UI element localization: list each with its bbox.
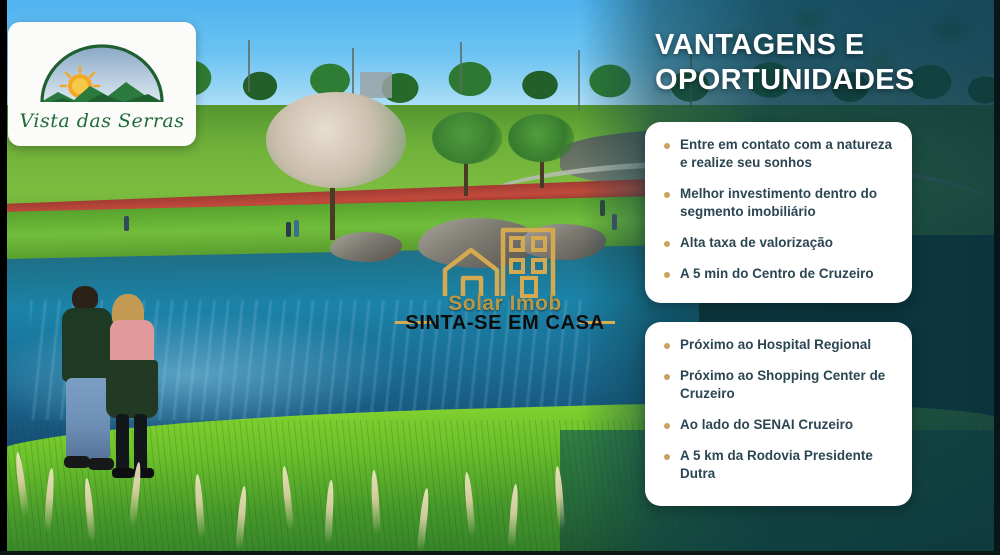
bullet-dot-icon xyxy=(664,423,670,429)
distant-building xyxy=(360,72,392,98)
list-item: Próximo ao Shopping Center de Cruzeiro xyxy=(659,367,896,403)
man-torso xyxy=(62,308,112,382)
couple-figure xyxy=(58,278,188,500)
man-jeans xyxy=(66,378,110,460)
pedestrian xyxy=(124,216,129,231)
man-shoe xyxy=(88,458,114,470)
list-item: A 5 min do Centro de Cruzeiro xyxy=(659,265,896,283)
bullet-dot-icon xyxy=(664,192,670,198)
woman-shoe xyxy=(112,468,134,478)
list-item-label: A 5 min do Centro de Cruzeiro xyxy=(680,266,874,281)
headline-line-2: OPORTUNIDADES xyxy=(655,63,985,98)
list-item: Alta taxa de valorização xyxy=(659,234,896,252)
bullet-dot-icon xyxy=(664,343,670,349)
pedestrian xyxy=(286,222,291,237)
list-item: Próximo ao Hospital Regional xyxy=(659,336,896,354)
list-item: Entre em contato com a natureza e realiz… xyxy=(659,136,896,172)
right-edge-border xyxy=(994,0,1000,555)
list-item-label: Próximo ao Hospital Regional xyxy=(680,337,871,352)
woman-skirt xyxy=(106,360,158,418)
man-shoe xyxy=(64,456,90,468)
location-bullet-list: Próximo ao Hospital Regional Próximo ao … xyxy=(659,336,896,483)
location-card[interactable]: Próximo ao Hospital Regional Próximo ao … xyxy=(645,322,912,506)
list-item: Melhor investimento dentro do segmento i… xyxy=(659,185,896,221)
rock xyxy=(330,232,402,262)
list-item-label: Próximo ao Shopping Center de Cruzeiro xyxy=(680,368,885,401)
brand-logo-name: Vista das Serras xyxy=(19,110,184,132)
pedestrian xyxy=(294,220,299,237)
bottom-edge-border xyxy=(0,551,1000,555)
list-item-label: Entre em contato com a natureza e realiz… xyxy=(680,137,892,170)
light-pole xyxy=(248,40,250,92)
bullet-dot-icon xyxy=(664,272,670,278)
headline-line-1: VANTAGENS E xyxy=(655,28,985,63)
man-head xyxy=(72,286,98,310)
advantages-bullet-list: Entre em contato com a natureza e realiz… xyxy=(659,136,896,283)
list-item-label: A 5 km da Rodovia Presidente Dutra xyxy=(680,448,873,481)
bullet-dot-icon xyxy=(664,374,670,380)
light-pole xyxy=(460,42,462,92)
woman-leg xyxy=(134,414,147,472)
light-pole xyxy=(352,48,354,94)
list-item-label: Alta taxa de valorização xyxy=(680,235,833,250)
list-item: Ao lado do SENAI Cruzeiro xyxy=(659,416,896,434)
promotional-banner: Vista das Serras Solar Imob xyxy=(0,0,1000,555)
blossom-tree xyxy=(266,92,406,188)
left-edge-border xyxy=(0,0,7,555)
bullet-dot-icon xyxy=(664,241,670,247)
tree xyxy=(432,112,502,164)
advantages-card[interactable]: Entre em contato com a natureza e realiz… xyxy=(645,122,912,303)
tree xyxy=(508,114,574,162)
list-item-label: Ao lado do SENAI Cruzeiro xyxy=(680,417,853,432)
bullet-dot-icon xyxy=(664,454,670,460)
list-item: A 5 km da Rodovia Presidente Dutra xyxy=(659,447,896,483)
bullet-dot-icon xyxy=(664,143,670,149)
page-title: VANTAGENS E OPORTUNIDADES xyxy=(655,28,985,99)
brand-logo-card[interactable]: Vista das Serras xyxy=(8,22,196,146)
list-item-label: Melhor investimento dentro do segmento i… xyxy=(680,186,877,219)
woman-leg xyxy=(116,414,129,472)
mountain-sun-arch-logo-icon xyxy=(32,36,172,108)
